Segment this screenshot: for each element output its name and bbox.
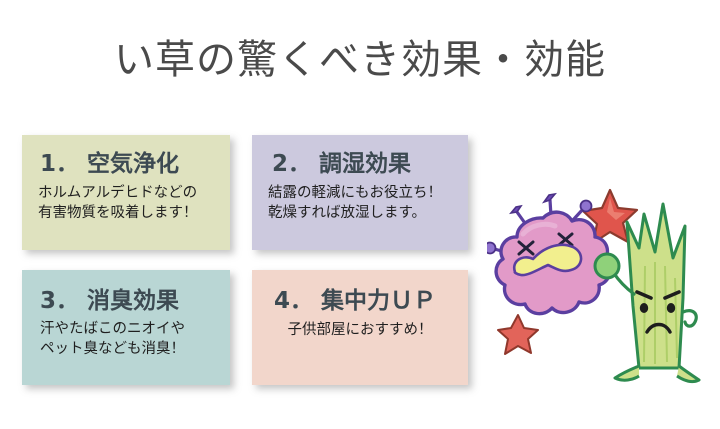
benefit-card-heading: 1． 空気浄化: [40, 151, 230, 177]
infographic-poster: い草の驚くべき効果・効能 1． 空気浄化 ホルムアルデヒドなどの 有害物質を吸着…: [0, 0, 720, 429]
benefit-card-heading: 4． 集中力ＵＰ: [274, 288, 468, 314]
benefit-card-humidity-control: 2． 調湿効果 結露の軽減にもお役立ち！ 乾燥すれば放湿します。: [252, 135, 468, 250]
benefit-card-heading: 2． 調湿効果: [272, 151, 468, 177]
benefit-card-body: 結露の軽減にもお役立ち！ 乾燥すれば放湿します。: [268, 183, 468, 223]
benefit-card-heading: 3． 消臭効果: [40, 288, 230, 314]
benefit-card-body: 汗やたばこのニオイや ペット臭なども消臭！: [40, 319, 230, 359]
benefit-cards-grid: 1． 空気浄化 ホルムアルデヒドなどの 有害物質を吸着します！ 2． 調湿効果 …: [22, 135, 474, 390]
benefit-card-body: ホルムアルデヒドなどの 有害物質を吸着します！: [38, 183, 230, 223]
igusa-vs-germ-illustration: [487, 186, 709, 386]
star-small-icon: [498, 315, 538, 354]
benefit-card-concentration-up: 4． 集中力ＵＰ 子供部屋におすすめ！: [252, 270, 468, 385]
benefit-card-deodorizing: 3． 消臭効果 汗やたばこのニオイや ペット臭なども消臭！: [22, 270, 230, 385]
page-title: い草の驚くべき効果・効能: [0, 34, 720, 86]
benefit-card-air-purification: 1． 空気浄化 ホルムアルデヒドなどの 有害物質を吸着します！: [22, 135, 230, 250]
benefit-card-body: 子供部屋におすすめ！: [252, 320, 468, 340]
